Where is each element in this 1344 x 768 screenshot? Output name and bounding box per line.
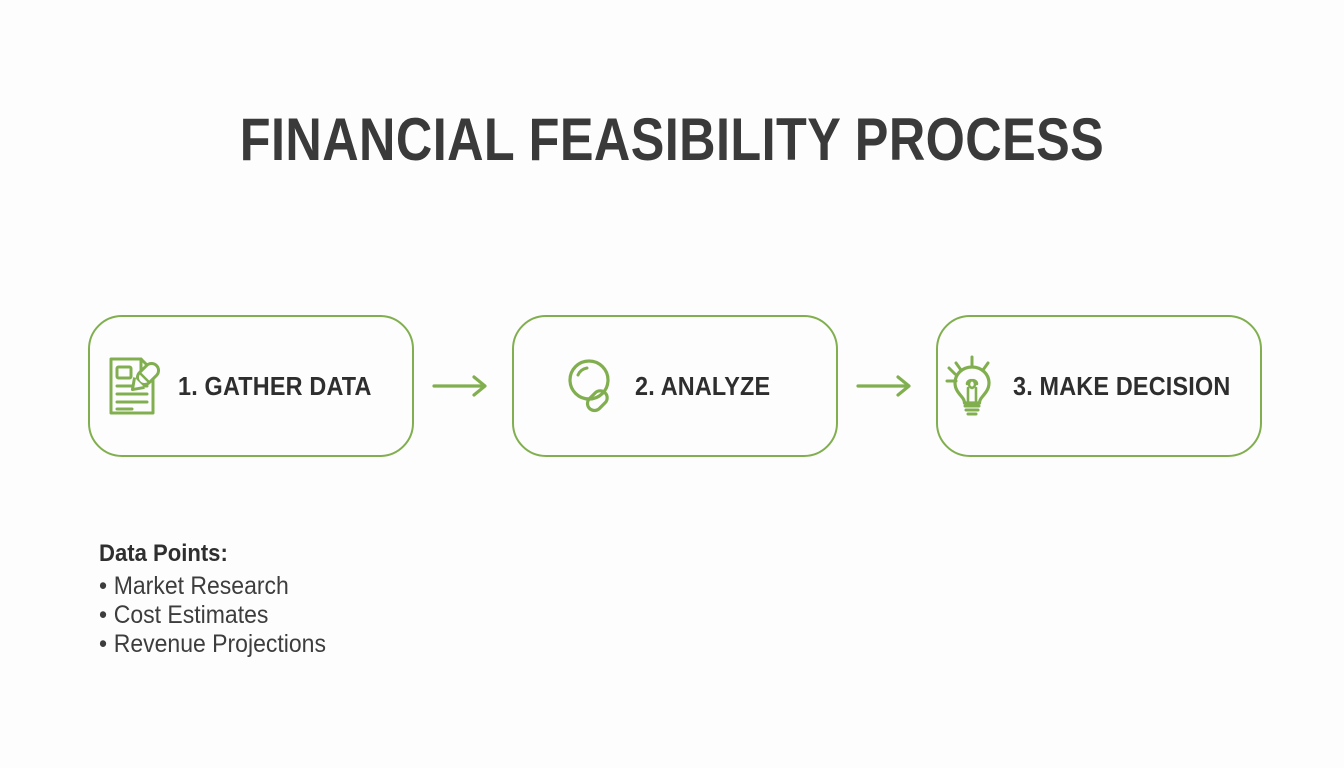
flow-connector-2 — [838, 373, 936, 399]
list-item-label: Revenue Projections — [114, 630, 326, 659]
bullet-icon: • — [99, 630, 114, 659]
arrow-right-icon — [432, 373, 494, 399]
magnifying-glass-icon — [565, 355, 623, 417]
lightbulb-icon — [943, 355, 1001, 417]
data-points-block: Data Points: • Market Research • Cost Es… — [99, 540, 346, 659]
page-title: FINANCIAL FEASIBILITY PROCESS — [108, 108, 1237, 171]
bullet-icon: • — [99, 572, 114, 601]
process-step-make-decision[interactable]: 3. MAKE DECISION — [936, 315, 1262, 457]
document-pencil-icon — [108, 355, 166, 417]
bullet-icon: • — [99, 601, 114, 630]
process-step-analyze[interactable]: 2. ANALYZE — [512, 315, 838, 457]
list-item: • Market Research — [99, 572, 326, 601]
data-points-list: • Market Research • Cost Estimates • Rev… — [99, 572, 346, 659]
list-item-label: Market Research — [114, 572, 289, 601]
list-item: • Cost Estimates — [99, 601, 326, 630]
arrow-right-icon — [856, 373, 918, 399]
process-step-label: 3. MAKE DECISION — [1013, 371, 1230, 402]
process-step-label: 2. ANALYZE — [635, 371, 770, 402]
step-content: 2. ANALYZE — [565, 355, 785, 417]
process-step-gather-data[interactable]: 1. GATHER DATA — [88, 315, 414, 457]
step-content: 3. MAKE DECISION — [943, 355, 1255, 417]
list-item: • Revenue Projections — [99, 630, 326, 659]
list-item-label: Cost Estimates — [114, 601, 269, 630]
flow-connector-1 — [414, 373, 512, 399]
process-flow-diagram: 1. GATHER DATA 2. ANALYZE — [88, 315, 1262, 457]
process-step-label: 1. GATHER DATA — [178, 371, 372, 402]
step-content: 1. GATHER DATA — [108, 355, 393, 417]
data-points-heading: Data Points: — [99, 540, 326, 568]
